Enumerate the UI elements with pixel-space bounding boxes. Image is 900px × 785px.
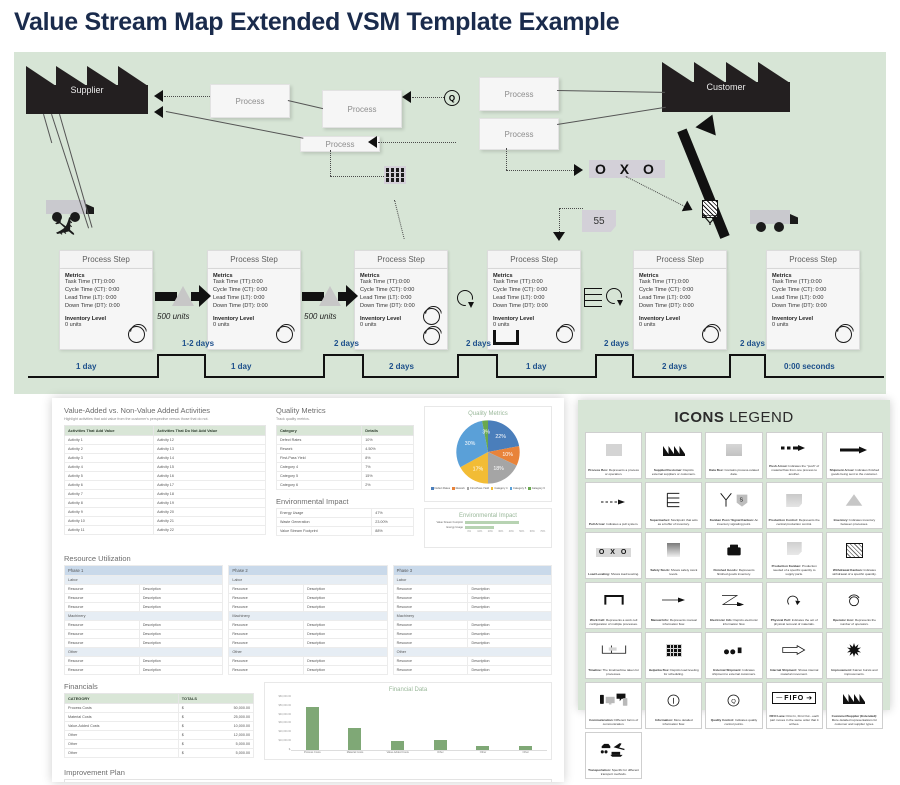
process-step-2-title: Process Step xyxy=(207,250,301,269)
legend-item-name: Communication: xyxy=(589,718,613,722)
down-time: Down Time (DT): 0:00 xyxy=(65,303,147,311)
col-non-add-value: Activities That Do Not Add Value xyxy=(154,425,266,435)
legend-entry: Category 5 xyxy=(510,487,527,490)
legend-item-name: Safety Stock: xyxy=(650,568,670,572)
legend-item-name: Quality Control: xyxy=(711,718,734,722)
legend-item-transportation: Transportation: Specific for different t… xyxy=(585,732,642,779)
legend-item-name: Internal Shipment: xyxy=(770,668,797,672)
operator-icon xyxy=(422,307,442,327)
cell-description: Description xyxy=(139,657,223,666)
info-arrow-4 xyxy=(154,106,163,118)
task-time: Task Time (TT):0:00 xyxy=(772,279,854,287)
customer-factory-icon: Customer xyxy=(662,60,790,112)
group-header: Machinery xyxy=(393,612,551,621)
cell-category: Category 6 xyxy=(276,481,361,490)
env-axis-tick: 0% xyxy=(465,530,474,533)
transportation-icon xyxy=(586,733,641,768)
timeline-drop-2 xyxy=(362,354,364,378)
timeline-riser-5 xyxy=(729,354,731,378)
legend-item-name: Push Arrow: xyxy=(769,464,787,468)
env-bar-row: Energy Usage xyxy=(429,526,547,529)
cell-details: 47% xyxy=(372,509,414,518)
legend-entry: Category 6 xyxy=(528,487,545,490)
legend-item-text: Production Kanban: Production needed of … xyxy=(767,564,822,578)
table-row: Category 47% xyxy=(276,463,413,472)
production-kanban-icon xyxy=(767,533,822,564)
cell-details: 2% xyxy=(362,481,414,490)
cell-nonadd: Activity 18 xyxy=(154,490,266,499)
env-axis-tick: 20% xyxy=(486,530,495,533)
physical-pull-icon xyxy=(767,583,822,618)
env-axis-tick: 70% xyxy=(539,530,548,533)
legend-item-text: Withdrawal Kanban: Indicates withdrawal … xyxy=(827,568,882,578)
phase-header: Phase 3 xyxy=(393,566,551,576)
cell-resource: Resource xyxy=(65,639,140,648)
cell-resource: Resource xyxy=(229,594,304,603)
legend-item-text: Improvement: Kaizen bursts and improveme… xyxy=(827,668,882,678)
svg-text:S: S xyxy=(740,498,744,504)
lead-time: Lead Time (LT): 0:00 xyxy=(213,295,295,303)
resource-row: ResourceDescription xyxy=(229,630,387,639)
page-title: Value Stream Map Extended VSM Template E… xyxy=(14,8,619,37)
legend-item-name: Transportation: xyxy=(588,768,611,772)
cell-fin-category: Other xyxy=(65,731,179,740)
legend-item-supermarket: Supermarket: Stockpoint that acts as a b… xyxy=(645,482,702,529)
heijunka-box-icon xyxy=(646,633,701,668)
svg-text:Q: Q xyxy=(732,699,737,705)
cell-category: Category 4 xyxy=(276,463,361,472)
timeline-riser-3 xyxy=(457,354,459,378)
quality-pie-chart: 22%10%18%17%30%3% xyxy=(455,419,521,485)
lead-time: Lead Time (LT): 0:00 xyxy=(772,295,854,303)
withdrawal-kanban-icon xyxy=(827,533,882,568)
timeline-riser-4 xyxy=(595,354,597,378)
legend-item-name: Process Box: xyxy=(588,468,608,472)
group-header: Machinery xyxy=(65,612,223,621)
legend-item-text: Supplier/Customer: Depicts external supp… xyxy=(646,468,701,478)
cell-details: 10% xyxy=(362,436,414,445)
lead-time: Lead Time (LT): 0:00 xyxy=(65,295,147,303)
legend-item-name: Operator Icon: xyxy=(833,618,854,622)
fin-axis-tick: $30,000.00 xyxy=(269,721,291,724)
cell-category: First-Pass Yield xyxy=(276,454,361,463)
legend-item-name: Supplier/Customer: xyxy=(654,468,683,472)
legend-entry: Defect Rates xyxy=(431,487,450,490)
info-arrow-3 xyxy=(368,136,377,148)
process-step-1[interactable]: Process Step Metrics Task Time (TT):0:00… xyxy=(59,250,153,350)
push-arrow-1-units: 500 units xyxy=(157,312,189,321)
table-row: Value-Added Costs$10,000.00 xyxy=(65,722,254,731)
task-time: Task Time (TT):0:00 xyxy=(65,279,147,287)
env-axis-tick: 50% xyxy=(518,530,527,533)
legend-item-text: Quality Control: Indicates quality contr… xyxy=(706,718,761,728)
cell-category: Energy Usage xyxy=(276,509,371,518)
cell-description: Description xyxy=(304,630,388,639)
process-box-icon xyxy=(586,433,641,468)
legend-entry: First-Pass Yield xyxy=(467,487,489,490)
legend-item-operator: Operator Icon: Represents the number of … xyxy=(826,582,883,629)
cell-resource: Resource xyxy=(65,594,140,603)
cell-fin-total: $25,000.00 xyxy=(178,713,253,722)
process-step-3-title: Process Step xyxy=(354,250,448,269)
fin-axis-tick: $50,000.00 xyxy=(269,704,291,707)
legend-item-production-kanban: Production Kanban: Production needed of … xyxy=(766,532,823,579)
financials-heading: Financials xyxy=(64,682,254,691)
process-box-5[interactable]: Process xyxy=(479,118,559,150)
cell-resource: Resource xyxy=(65,603,140,612)
legend-item-name: Load Leveling: xyxy=(588,572,610,576)
legend-swatch xyxy=(491,487,494,490)
info-arrow-2 xyxy=(402,91,411,103)
legend-item-text: Work Cell: Represents a work cell config… xyxy=(586,618,641,628)
legend-item-text: Pull Arrow: Indicates a pull system. xyxy=(587,522,640,528)
timeline-low-5 xyxy=(632,376,730,378)
fin-axis-tick: $10,000.00 xyxy=(269,739,291,742)
env-axis-tick: 10% xyxy=(475,530,484,533)
customer-supplier-extended-icon xyxy=(827,683,882,714)
task-time: Task Time (TT):0:00 xyxy=(493,279,575,287)
legend-item-name: Work Cell: xyxy=(590,618,605,622)
shipment-arrow-icon xyxy=(827,433,882,468)
cell-description: Description xyxy=(139,630,223,639)
legend-item-name: Improvement: xyxy=(831,668,851,672)
resource-row: ResourceDescription xyxy=(229,657,387,666)
legend-item-name: Customer/Supplier (Extended): xyxy=(832,714,878,718)
legend-item-load-leveling: O X OLoad Leveling: Shows load leveling. xyxy=(585,532,642,579)
cell-resource: Resource xyxy=(65,657,140,666)
legend-item-safety-stock: Safety Stock: Shows safety stock levels. xyxy=(645,532,702,579)
legend-item-finished-goods: Finished Goods: Represents finished good… xyxy=(705,532,762,579)
upper-time-3: 2 days xyxy=(466,339,491,348)
legend-item-timeline: Timeline: The timeline/time taken for pr… xyxy=(585,632,642,679)
timeline-high-3 xyxy=(457,354,497,356)
table-row: Waste Generation23.00% xyxy=(276,518,413,527)
timeline-riser-2 xyxy=(323,354,325,378)
legend-item-text: Production Control: Represents the centr… xyxy=(767,518,822,528)
fin-bar-label: Process Costs xyxy=(291,751,334,754)
cell-resource: Resource xyxy=(65,630,140,639)
pie-slice-label: 10% xyxy=(502,452,513,458)
legend-item-name: Electronic Info: xyxy=(710,618,733,622)
cell-resource: Resource xyxy=(229,639,304,648)
legend-item-name: Timeline: xyxy=(588,668,602,672)
down-time: Down Time (DT): 0:00 xyxy=(639,303,721,311)
process-step-6[interactable]: Process Step Metrics Task Time (TT):0:00… xyxy=(766,250,860,350)
legend-swatch xyxy=(528,487,531,490)
cell-description: Description xyxy=(468,630,552,639)
kanban-feed-arrow xyxy=(553,232,565,241)
legend-item-inventory-triangle: Inventory: Indicates inventory between p… xyxy=(826,482,883,529)
resource-row: ResourceDescription xyxy=(229,666,387,675)
cell-fin-category: Value-Added Costs xyxy=(65,722,179,731)
cell-resource: Resource xyxy=(393,657,468,666)
cycle-time: Cycle Time (CT): 0:00 xyxy=(772,287,854,295)
pull-arrow-icon xyxy=(586,483,641,522)
external-shipment-icon xyxy=(706,633,761,668)
legend-item-name: Data Box: xyxy=(709,468,723,472)
legend-item-name: Withdrawal Kanban: xyxy=(833,568,863,572)
quality-metrics-subtitle: Track quality metrics. xyxy=(276,417,414,422)
info-flow-4 xyxy=(378,142,456,143)
safety-stock-icon xyxy=(646,533,701,568)
info-flow-6 xyxy=(330,150,331,176)
timeline-low-2 xyxy=(204,376,324,378)
timeline-riser-1 xyxy=(157,354,159,378)
table-row: Activity 8Activity 19 xyxy=(65,499,266,508)
legend-item-name: Production Control: xyxy=(769,518,798,522)
group-header: Labor xyxy=(229,576,387,585)
cell-description: Description xyxy=(139,594,223,603)
cell-description: Description xyxy=(468,621,552,630)
info-arrow-1 xyxy=(154,90,163,102)
cycle-time: Cycle Time (CT): 0:00 xyxy=(493,287,575,295)
cycle-time: Cycle Time (CT): 0:00 xyxy=(213,287,295,295)
operator-icon xyxy=(701,325,721,345)
process-step-5[interactable]: Process Step Metrics Task Time (TT):0:00… xyxy=(633,250,727,350)
timeline-high-4 xyxy=(595,354,633,356)
legend-item-shipment-arrow: Shipment Arrow: Indicates finished goods… xyxy=(826,432,883,479)
legend-swatch xyxy=(467,487,470,490)
resource-row: ResourceDescription xyxy=(393,657,551,666)
timeline-drop-1 xyxy=(204,354,206,378)
lead-time: Lead Time (LT): 0:00 xyxy=(360,295,442,303)
process-box-4[interactable]: Process xyxy=(479,77,559,111)
cell-description: Description xyxy=(139,666,223,675)
cell-details: 15% xyxy=(362,472,414,481)
info-flow-7 xyxy=(330,176,384,177)
cell-nonadd: Activity 19 xyxy=(154,499,266,508)
environmental-heading: Environmental Impact xyxy=(276,497,414,506)
factory-icon xyxy=(646,433,701,468)
fin-bar xyxy=(434,740,447,750)
legend-item-text: Heijunka Box: Depicts load leveling for … xyxy=(646,668,701,678)
legend-item-text: Shipment Arrow: Indicates finished goods… xyxy=(827,468,882,478)
task-time: Task Time (TT):0:00 xyxy=(639,279,721,287)
cell-fin-total: $5,000.00 xyxy=(178,740,253,749)
group-header: Other xyxy=(393,648,551,657)
legend-item-production-control: Production Control: Represents the centr… xyxy=(766,482,823,529)
cell-nonadd: Activity 14 xyxy=(154,454,266,463)
table-row: Other$5,000.00 xyxy=(65,740,254,749)
cell-category: Defect Rates xyxy=(276,436,361,445)
table-row: Activity 6Activity 17 xyxy=(65,481,266,490)
supplier-transport-line-1 xyxy=(43,114,52,143)
pie-slice-label: 3% xyxy=(482,430,490,436)
table-row: Activity 9Activity 20 xyxy=(65,508,266,517)
cell-details: 8% xyxy=(362,454,414,463)
env-bar xyxy=(465,526,494,529)
legend-item-text: Kanban Post / Signal Kanban: An inventor… xyxy=(706,518,761,528)
resource-row: ResourceDescription xyxy=(393,630,551,639)
table-row: Activity 4Activity 15 xyxy=(65,463,266,472)
lower-time-5: 2 days xyxy=(662,362,687,371)
kanban-post-value: 55 xyxy=(593,216,604,227)
process-step-2[interactable]: Process Step Metrics Task Time (TT):0:00… xyxy=(207,250,301,350)
col-category: Category xyxy=(276,425,361,435)
vsm-data-document: Value-Added vs. Non-Value Added Activiti… xyxy=(52,398,564,782)
value-added-subtitle: Highlight activities that add value from… xyxy=(64,417,266,422)
process-box-5-label: Process xyxy=(505,130,534,139)
legend-item-push-arrow: Push Arrow: Indicates the "push" of mate… xyxy=(766,432,823,479)
fin-bar-label: Material Costs xyxy=(334,751,377,754)
cell-category: Category 5 xyxy=(276,472,361,481)
legend-item-factory: Supplier/Customer: Depicts external supp… xyxy=(645,432,702,479)
legend-item-name: Heijunka Box: xyxy=(649,668,670,672)
supplier-factory-icon: Supplier xyxy=(26,64,148,114)
process-step-1-title: Process Step xyxy=(59,250,153,269)
resource-utilization-phases: Phase 1LaborResourceDescriptionResourceD… xyxy=(64,565,552,675)
legend-item-external-shipment: External Shipment: Indicates shipment to… xyxy=(705,632,762,679)
legend-item-text: Inventory: Indicates inventory between p… xyxy=(827,518,882,528)
pie-slice-label: 30% xyxy=(465,441,476,447)
oxo-feed-arrow xyxy=(574,164,583,176)
legend-item-name: External Shipment: xyxy=(713,668,741,672)
customer-info-flow-1 xyxy=(557,90,665,93)
cell-fin-category: Process Costs xyxy=(65,704,179,713)
legend-title-rest: LEGEND xyxy=(724,409,793,426)
env-bar-label: Energy Usage xyxy=(429,526,463,529)
cell-add: Activity 7 xyxy=(65,490,154,499)
cell-resource: Resource xyxy=(393,603,468,612)
upper-time-2: 2 days xyxy=(334,339,359,348)
timeline-low-3 xyxy=(362,376,458,378)
timeline-drop-3 xyxy=(496,354,498,378)
cell-description: Description xyxy=(139,585,223,594)
operator-icon xyxy=(275,325,295,345)
env-chart-title: Environmental Impact xyxy=(429,513,547,519)
legend-item-text: Timeline: The timeline/time taken for pr… xyxy=(586,668,641,678)
legend-item-text: Push Arrow: Indicates the "push" of mate… xyxy=(767,464,822,478)
resource-row: ResourceDescription xyxy=(229,621,387,630)
resource-utilization-heading: Resource Utilization xyxy=(64,554,552,563)
cell-description: Description xyxy=(304,666,388,675)
quality-control-icon: Q xyxy=(706,683,761,718)
quality-metrics-table: Category Details Defect Rates10%Rework4.… xyxy=(276,425,414,490)
cell-nonadd: Activity 16 xyxy=(154,472,266,481)
legend-item-text: Load Leveling: Shows load leveling. xyxy=(586,572,641,578)
resource-row: ResourceDescription xyxy=(229,594,387,603)
lower-time-1: 1 day xyxy=(76,362,96,371)
lower-time-3: 2 days xyxy=(389,362,414,371)
quality-control-icon: Q xyxy=(444,90,460,106)
quality-metrics-heading: Quality Metrics xyxy=(276,406,414,415)
cell-description: Description xyxy=(304,639,388,648)
cell-nonadd: Activity 15 xyxy=(154,463,266,472)
fifo-lane-icon: —FIFO➔ xyxy=(767,683,822,714)
work-cell-icon xyxy=(586,583,641,618)
cell-description: Description xyxy=(304,585,388,594)
resource-phase-2: Phase 2LaborResourceDescriptionResourceD… xyxy=(228,565,387,675)
cell-nonadd: Activity 20 xyxy=(154,508,266,517)
process-box-2-label: Process xyxy=(348,105,377,114)
table-row: Category 62% xyxy=(276,481,413,490)
legend-title-bold: ICONS xyxy=(674,409,724,426)
financial-chart-title: Financial Data xyxy=(269,687,547,693)
timeline-high-5 xyxy=(729,354,765,356)
legend-title: ICONS LEGEND xyxy=(578,400,890,426)
table-row: Energy Usage47% xyxy=(276,509,413,518)
electronic-info-icon xyxy=(706,583,761,618)
inventory-triangle-icon xyxy=(827,483,882,518)
safety-stock-icon xyxy=(702,200,718,222)
fin-bar-label: Other xyxy=(419,751,462,754)
cell-details: 88% xyxy=(372,527,414,536)
resource-row: ResourceDescription xyxy=(65,585,223,594)
resource-row: ResourceDescription xyxy=(65,594,223,603)
legend-item-internal-shipment: Internal Shipment: Shows internal materi… xyxy=(766,632,823,679)
legend-item-text: Supermarket: Stockpoint that acts as a b… xyxy=(646,518,701,528)
col-fin-category: CATEGORY xyxy=(65,694,179,704)
cell-resource: Resource xyxy=(393,666,468,675)
legend-item-name: Manual Info: xyxy=(651,618,669,622)
operator-icon xyxy=(827,583,882,618)
push-arrow-icon xyxy=(767,433,822,464)
table-row: Activity 2Activity 13 xyxy=(65,445,266,454)
timeline-low-6 xyxy=(764,376,884,378)
cell-add: Activity 2 xyxy=(65,445,154,454)
environmental-bar-chart: Value Stream FootprintEnergy Usage0%10%2… xyxy=(429,521,547,533)
legend-swatch xyxy=(452,487,455,490)
lower-time-2: 1 day xyxy=(231,362,251,371)
process-step-4[interactable]: Process Step Metrics Task Time (TT):0:00… xyxy=(487,250,581,350)
env-bar xyxy=(465,521,520,524)
operator-icon xyxy=(555,325,575,345)
resource-row: ResourceDescription xyxy=(229,639,387,648)
group-header: Other xyxy=(229,648,387,657)
process-box-1[interactable]: Process xyxy=(210,84,290,118)
oxo-feed-vert xyxy=(506,148,507,170)
load-leveling-label: O X O xyxy=(595,161,659,177)
table-row: Activity 5Activity 16 xyxy=(65,472,266,481)
lower-time-6: 0:00 seconds xyxy=(784,362,835,371)
legend-item-work-cell: Work Cell: Represents a work cell config… xyxy=(585,582,642,629)
phase-header: Phase 2 xyxy=(229,566,387,576)
lead-time: Lead Time (LT): 0:00 xyxy=(639,295,721,303)
customer-info-flow-2 xyxy=(557,107,666,125)
pie-slice-label: 22% xyxy=(495,434,506,440)
table-row: First-Pass Yield8% xyxy=(276,454,413,463)
finished-goods-icon xyxy=(706,533,761,568)
cell-add: Activity 5 xyxy=(65,472,154,481)
operator-icon xyxy=(834,325,854,345)
cell-fin-total: $10,000.00 xyxy=(178,722,253,731)
legend-item-process-box: Process Box: Represents a process or ope… xyxy=(585,432,642,479)
legend-item-information: Information: More detailed information f… xyxy=(645,682,702,729)
table-row: Material Costs$25,000.00 xyxy=(65,713,254,722)
legend-item-name: Physical Pull: xyxy=(771,618,791,622)
group-header: Labor xyxy=(65,576,223,585)
information-icon xyxy=(646,683,701,718)
cell-resource: Resource xyxy=(65,585,140,594)
table-row: Activity 10Activity 21 xyxy=(65,517,266,526)
resource-row: ResourceDescription xyxy=(393,603,551,612)
cell-resource: Resource xyxy=(393,594,468,603)
process-step-3[interactable]: Process Step Metrics Task Time (TT):0:00… xyxy=(354,250,448,350)
legend-item-text: Physical Pull: Indicates the act of phys… xyxy=(767,618,822,628)
safety-stock-feed xyxy=(626,176,691,210)
process-box-2[interactable]: Process xyxy=(322,90,402,128)
cell-add: Activity 4 xyxy=(65,463,154,472)
communication-icon xyxy=(586,683,641,718)
physical-pull-icon-2 xyxy=(606,288,622,304)
cell-add: Activity 6 xyxy=(65,481,154,490)
table-row: Other$5,000.00 xyxy=(65,749,254,758)
environmental-chart-card: Environmental Impact Value Stream Footpr… xyxy=(424,508,552,548)
legend-swatch xyxy=(510,487,513,490)
cell-description: Description xyxy=(468,639,552,648)
legend-item-name: Supermarket: xyxy=(650,518,670,522)
table-row: Process Costs$50,000.00 xyxy=(65,704,254,713)
